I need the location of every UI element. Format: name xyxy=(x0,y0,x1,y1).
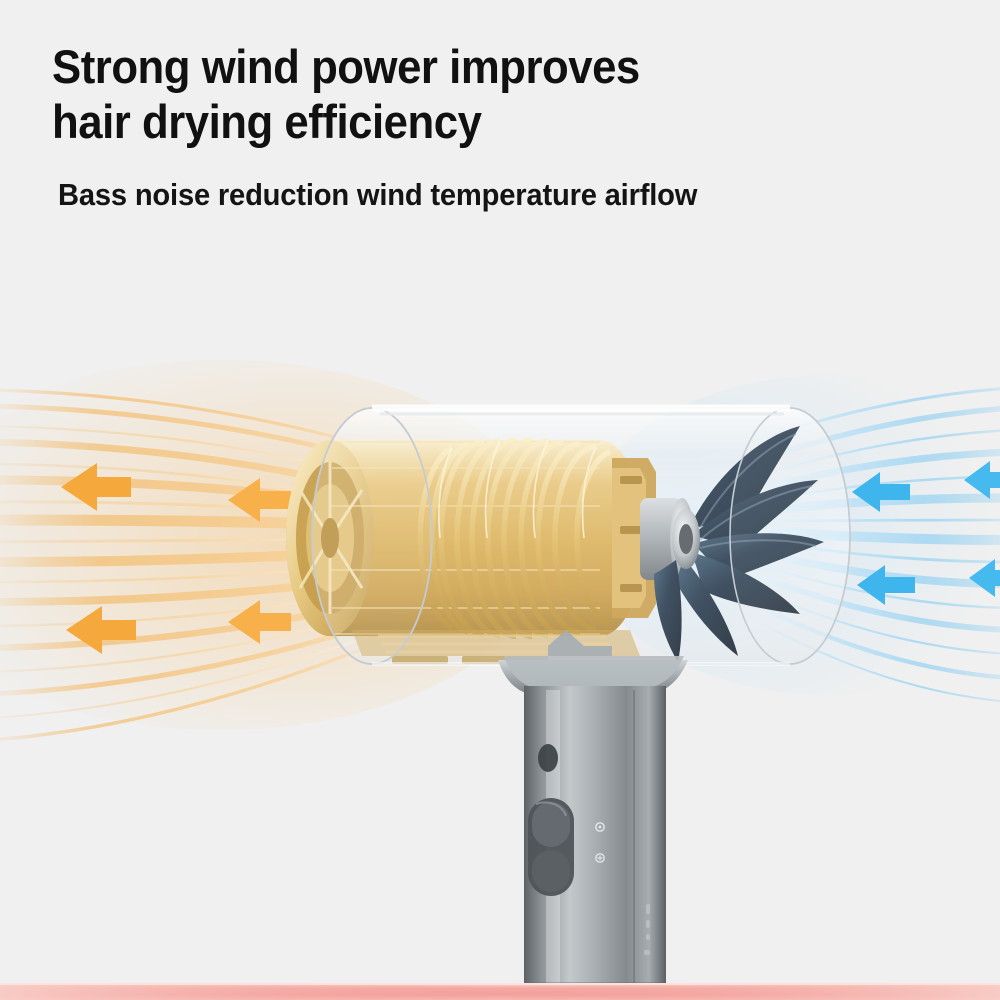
power-speed-rocker-switch[interactable] xyxy=(528,798,574,896)
product-marketing-banner: Strong wind power improves hair drying e… xyxy=(0,0,1000,1000)
page-subtitle: Bass noise reduction wind temperature ai… xyxy=(58,177,904,213)
shell-front-rim xyxy=(312,408,432,664)
handle-vent-hole xyxy=(538,744,558,772)
shell-rear-rim xyxy=(730,408,850,664)
transparent-barrel-shell-front xyxy=(312,408,850,664)
page-title: Strong wind power improves hair drying e… xyxy=(52,40,870,149)
hair-dryer-cutaway xyxy=(0,330,1000,1000)
pink-floor-band xyxy=(0,970,1000,1000)
metal-handle xyxy=(498,656,688,1000)
